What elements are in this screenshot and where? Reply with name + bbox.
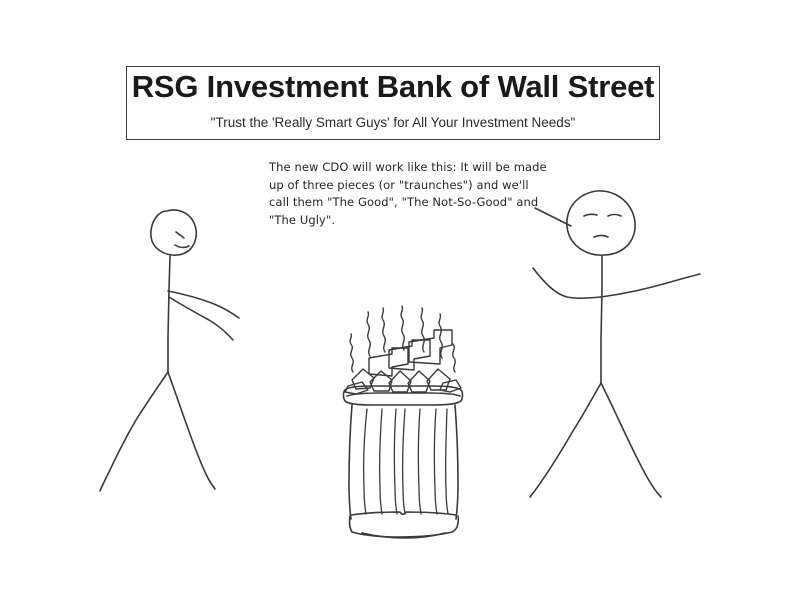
trash-can-ribs bbox=[364, 409, 448, 514]
right-figure-arm-right bbox=[601, 274, 700, 297]
garbage-pile bbox=[345, 330, 461, 394]
left-stick-figure bbox=[100, 210, 239, 491]
cartoon-canvas: RSG Investment Bank of Wall Street "Trus… bbox=[0, 0, 800, 600]
letterhead-slogan: "Trust the 'Really Smart Guys' for All Y… bbox=[127, 115, 659, 130]
dialogue-text: The new CDO will work like this: It will… bbox=[269, 159, 569, 229]
trash-can-base-top bbox=[351, 512, 456, 515]
right-stick-figure bbox=[530, 191, 700, 497]
stink-line-3 bbox=[382, 308, 385, 352]
dialogue-line: up of three pieces (or "traunches") and … bbox=[269, 177, 569, 195]
left-figure-torso bbox=[168, 256, 170, 372]
stink-line-1 bbox=[350, 334, 353, 372]
right-figure-eye-left bbox=[584, 214, 597, 216]
trash-can-rib-5 bbox=[418, 409, 421, 514]
dialogue-line: The new CDO will work like this: It will… bbox=[269, 159, 569, 177]
trash-can-base-foot bbox=[362, 533, 445, 538]
trash-can-rib-4 bbox=[403, 409, 405, 514]
trash-can-rib-6 bbox=[434, 409, 437, 514]
right-figure-leg-left bbox=[530, 383, 601, 497]
stink-line-5 bbox=[421, 308, 424, 352]
overflowing-trash-can bbox=[344, 306, 463, 538]
trash-can-rim-inner-line bbox=[347, 393, 460, 396]
left-figure-arm-upper bbox=[168, 291, 239, 318]
left-figure-leg-left bbox=[100, 372, 168, 491]
letterhead-box: RSG Investment Bank of Wall Street "Trus… bbox=[126, 66, 660, 140]
left-figure-head bbox=[151, 210, 196, 255]
left-figure-eye bbox=[176, 232, 184, 238]
left-figure-leg-right bbox=[168, 372, 215, 489]
right-figure-eye-right bbox=[608, 215, 621, 217]
left-figure-arm-lower bbox=[169, 297, 233, 340]
dialogue-line: "The Ugly". bbox=[269, 212, 569, 230]
stink-line-7 bbox=[453, 344, 456, 372]
page-title: RSG Investment Bank of Wall Street bbox=[127, 69, 659, 105]
trash-can-rib-7 bbox=[446, 409, 448, 514]
trash-can-rib-1 bbox=[364, 409, 367, 514]
trash-can-rib-3 bbox=[394, 409, 397, 514]
right-figure-mouth bbox=[594, 236, 608, 238]
right-figure-head bbox=[567, 191, 635, 255]
stink-line-2 bbox=[367, 312, 370, 356]
right-figure-torso bbox=[601, 256, 602, 383]
right-figure-leg-right bbox=[601, 383, 661, 497]
dialogue-line: call them "The Good", "The Not-So-Good" … bbox=[269, 194, 569, 212]
right-figure-arm-left bbox=[533, 268, 601, 298]
trash-can-rib-2 bbox=[380, 409, 382, 514]
left-figure-mouth bbox=[175, 245, 189, 247]
trash-can-body-right bbox=[455, 405, 458, 519]
stink-line-4 bbox=[401, 306, 404, 350]
trash-can-body-left bbox=[349, 405, 352, 519]
